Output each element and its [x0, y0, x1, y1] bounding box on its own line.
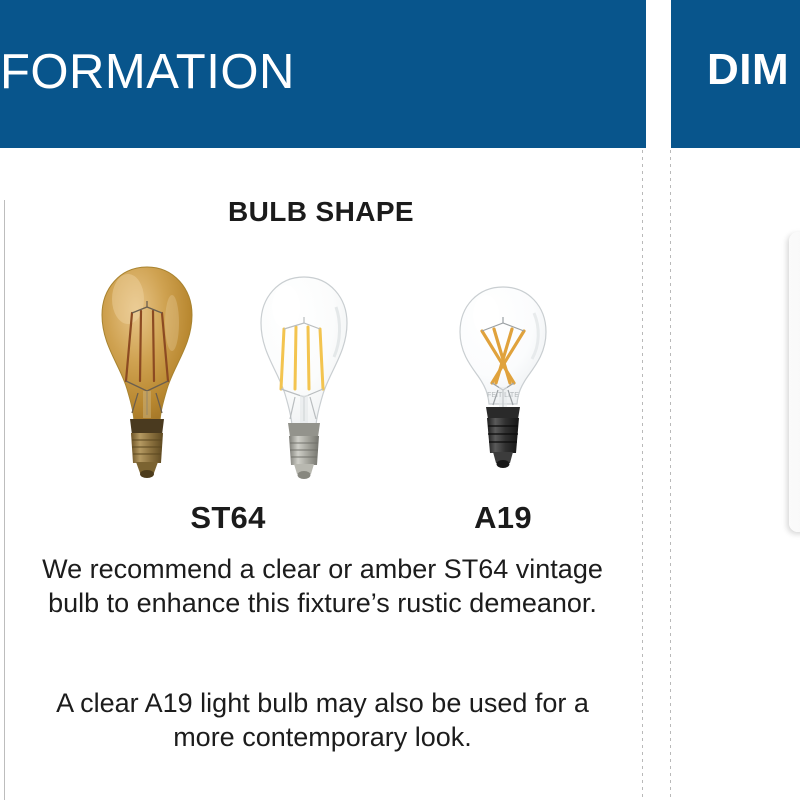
right-panel-body: T use: [671, 148, 800, 800]
dimmer-switch-image: [789, 232, 800, 532]
bulb-a19-clear-image: FEIT LITE: [452, 283, 554, 479]
dimmer-paragraph: T use: [671, 693, 800, 761]
page-title: BULB SHAPE: [0, 196, 642, 228]
right-panel-header-title: DIM: [707, 48, 789, 92]
bulb-label-a19: A19: [403, 500, 603, 536]
bulb-label-st64: ST64: [128, 500, 328, 536]
bulb-recommendation-paragraph-2: A clear A19 light bulb may also be used …: [30, 686, 615, 754]
bulb-recommendation-paragraph-1: We recommend a clear or amber ST64 vinta…: [30, 552, 615, 620]
bulb-glass-logo-text: FEIT LITE: [487, 392, 519, 399]
dotted-divider-left: [642, 150, 643, 800]
left-panel-body: BULB SHAPE: [0, 148, 642, 800]
left-panel-header-bar: FORMATION: [0, 0, 646, 148]
left-panel-header-title: FORMATION: [0, 48, 295, 97]
bulb-st64-amber-image: [88, 263, 206, 483]
bulb-image-row: FEIT LITE: [0, 253, 642, 483]
right-panel-header-bar: DIM: [671, 0, 800, 148]
bulb-st64-clear-image: [248, 273, 360, 485]
slide-canvas: FORMATION DIM BULB SHAPE: [0, 0, 800, 800]
